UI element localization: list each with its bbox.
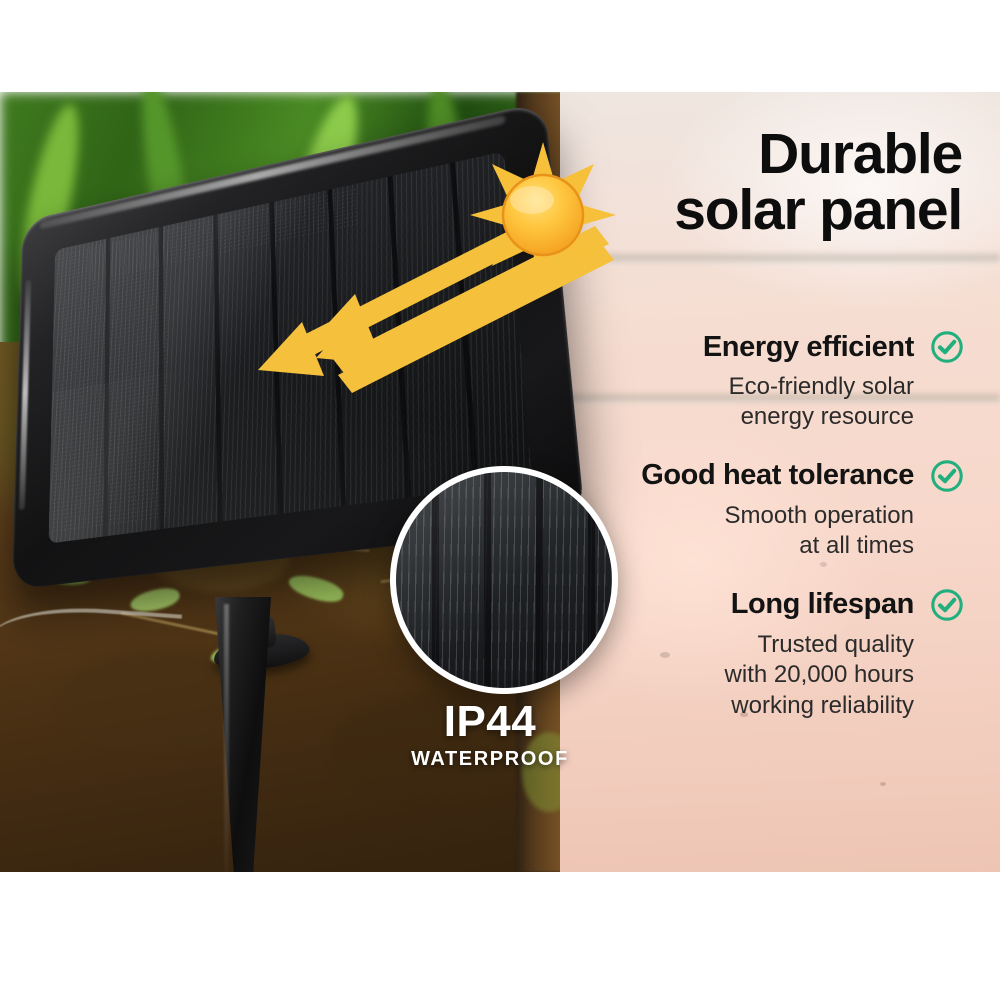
feature-description: Trusted quality with 20,000 hours workin… [564, 630, 964, 721]
feature-description: Smooth operation at all times [564, 501, 964, 562]
feature-item: Good heat tolerance Smooth operation at … [564, 459, 964, 562]
feature-desc-line: at all times [564, 531, 914, 561]
check-circle-icon [930, 459, 964, 493]
feature-desc-line: with 20,000 hours [564, 660, 914, 690]
feature-title: Good heat tolerance [641, 459, 914, 492]
feature-item: Energy efficient Eco-friendly solar ener… [564, 330, 964, 433]
headline-line-1: Durable [758, 122, 962, 186]
ip-label: WATERPROOF [330, 748, 650, 771]
feature-list: Energy efficient Eco-friendly solar ener… [564, 330, 964, 747]
headline-line-2: solar panel [542, 182, 962, 238]
feature-title: Long lifespan [731, 588, 914, 621]
page-title: Durable solar panel [542, 126, 962, 239]
top-white-band [0, 0, 1000, 92]
feature-desc-line: working reliability [564, 691, 914, 721]
feature-description: Eco-friendly solar energy resource [564, 372, 964, 433]
feature-title: Energy efficient [703, 331, 914, 364]
bottom-white-band [0, 872, 1000, 1000]
feature-desc-line: energy resource [564, 402, 914, 432]
check-circle-icon [930, 330, 964, 364]
feature-desc-line: Smooth operation [564, 501, 914, 531]
feature-item: Long lifespan Trusted quality with 20,00… [564, 588, 964, 721]
feature-desc-line: Eco-friendly solar [564, 372, 914, 402]
check-circle-icon [930, 588, 964, 622]
feature-desc-line: Trusted quality [564, 630, 914, 660]
product-feature-image: IP44 WATERPROOF Durable solar panel Ener… [0, 0, 1000, 1000]
